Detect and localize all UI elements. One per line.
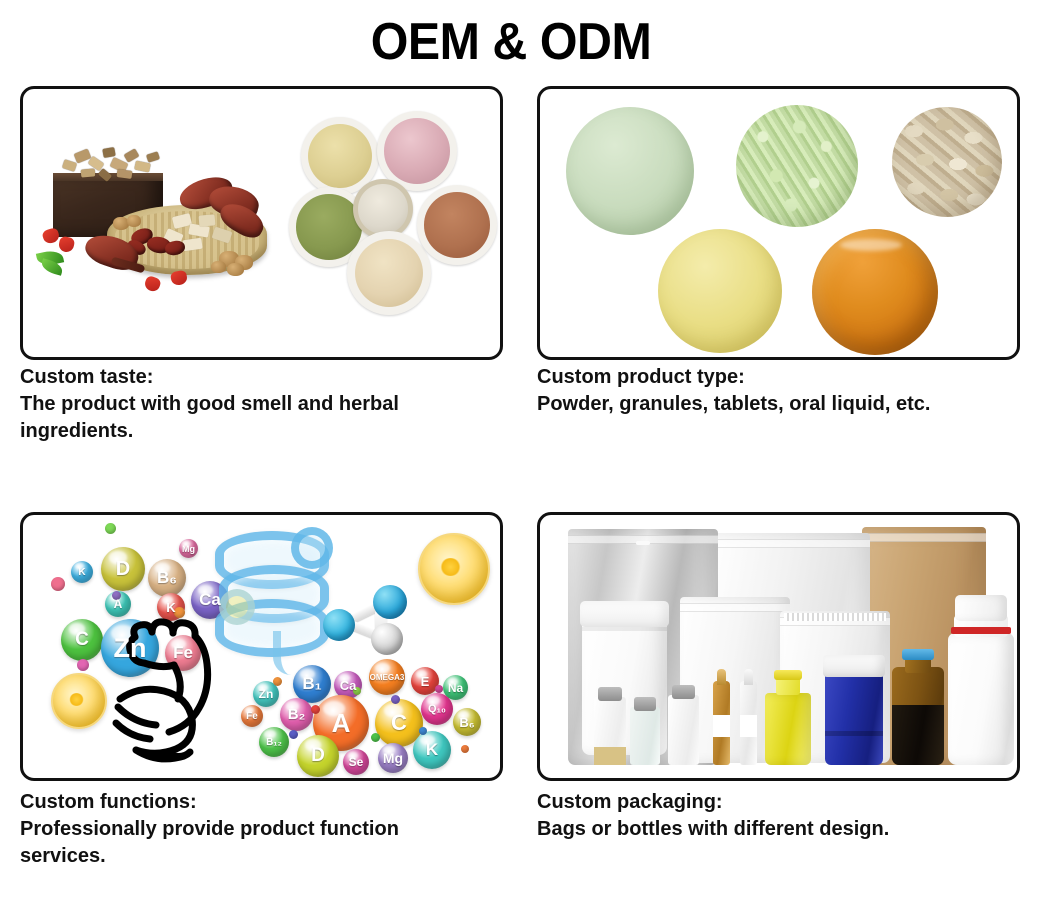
- vitamin-bubble-label: A: [332, 708, 351, 739]
- vitamin-bubble-label: K: [166, 600, 175, 615]
- vitamin-bubble-b: B₁₂: [259, 727, 289, 757]
- card-custom-packaging[interactable]: [537, 512, 1020, 781]
- dried-herb-heap: [59, 143, 163, 179]
- sample-green-granules: [736, 105, 858, 227]
- card-custom-taste[interactable]: [20, 86, 503, 360]
- white-hdpe-bottle: [948, 633, 1014, 765]
- oil-softgel-top-right: [418, 533, 490, 605]
- caption-text-custom-packaging: Bags or bottles with different design.: [537, 816, 1007, 843]
- vitamin-bubble-c: C: [61, 619, 103, 661]
- vitamin-bubble-label: Se: [349, 755, 364, 769]
- caption-text-custom-product-type: Powder, granules, tablets, oral liquid, …: [537, 391, 1007, 418]
- vial-right: [668, 695, 699, 765]
- vitamin-bubble-d: D: [101, 547, 145, 591]
- caption-text-custom-functions: Professionally provide product function …: [20, 816, 490, 870]
- caption-custom-taste: Custom taste: The product with good smel…: [20, 364, 490, 446]
- vitamin-bubble-label: Ca: [340, 678, 357, 693]
- oil-softgel-bottom-left: [51, 673, 107, 729]
- caption-text-custom-taste: The product with good smell and herbal i…: [20, 391, 490, 445]
- vitamin-bubble-mg: Mg: [378, 743, 408, 773]
- vitamin-bubble-label: B₆: [157, 568, 177, 588]
- card-custom-functions[interactable]: KDB₆MgCaAKCZnFe: [20, 512, 503, 781]
- page-title: OEM & ODM: [23, 16, 1000, 68]
- vitamin-bubble-label: D: [311, 745, 325, 767]
- vitamin-bubble-label: K: [78, 567, 85, 578]
- vitamin-bubble-mg: Mg: [179, 539, 198, 558]
- vitamin-bubble-label: D: [116, 558, 130, 581]
- vitamin-bubble-label: Zn: [114, 633, 147, 664]
- vitamin-bubble-k: K: [413, 731, 451, 769]
- vitamin-bubble-label: Mg: [383, 750, 403, 766]
- caption-custom-packaging: Custom packaging: Bags or bottles with d…: [537, 789, 1007, 843]
- vitamin-bubble-d: D: [297, 735, 339, 777]
- vitamin-bubble-label: Mg: [182, 544, 195, 554]
- caption-title-custom-product-type: Custom product type:: [537, 364, 1007, 391]
- powder-bowl-beige: [347, 231, 431, 315]
- vitamin-bubble-label: Ca: [199, 590, 221, 610]
- vitamin-bubble-omega3: OMEGA3: [369, 659, 405, 695]
- caption-custom-functions: Custom functions: Professionally provide…: [20, 789, 490, 871]
- vitamin-bubble-label: C: [391, 710, 407, 736]
- vial-middle: [630, 707, 660, 765]
- caption-title-custom-functions: Custom functions:: [20, 789, 490, 816]
- yellow-liquid-bottle: [765, 693, 811, 765]
- sample-tablets: [892, 107, 1002, 217]
- vitamin-bubble-b: B₆: [453, 708, 481, 736]
- custom-functions-image: KDB₆MgCaAKCZnFe: [23, 515, 500, 778]
- vitamin-bubble-se: Se: [343, 749, 369, 775]
- vitamin-bubble-label: Fe: [246, 711, 258, 722]
- caption-title-custom-packaging: Custom packaging:: [537, 789, 1007, 816]
- vitamin-bubble-label: K: [426, 740, 438, 760]
- vitamin-bubble-label: E: [421, 674, 430, 689]
- vitamin-bubble-label: B₆: [459, 715, 474, 730]
- caption-custom-product-type: Custom product type: Powder, granules, t…: [537, 364, 1007, 418]
- vitamin-bubble-b: B₆: [148, 559, 186, 597]
- vitamin-bubble-label: B₁: [302, 674, 321, 694]
- blue-jar: [825, 663, 883, 765]
- vitamin-bubble-label: Na: [448, 681, 463, 695]
- sample-green-powder: [566, 107, 694, 235]
- custom-product-type-image: [540, 89, 1017, 357]
- vitamin-bubble-label: B₁₂: [266, 737, 282, 748]
- vitamin-bubble-label: Fe: [173, 643, 193, 663]
- custom-packaging-image: [540, 515, 1017, 778]
- vitamin-bubble-label: Zn: [259, 687, 274, 701]
- powder-bowl-white: [353, 179, 413, 239]
- vitamin-bubble-label: A: [114, 597, 123, 611]
- vitamin-bubbles-right: ZnFeB₁CaOMEGA3ENaB₂ACQ₁₀B₆B₁₂DSeMgK: [241, 653, 491, 773]
- caption-title-custom-taste: Custom taste:: [20, 364, 490, 391]
- card-custom-product-type[interactable]: [537, 86, 1020, 360]
- powder-bowl-brown: [417, 185, 497, 265]
- vitamin-bubble-label: B₂: [288, 706, 306, 723]
- vitamin-bubble-q: Q₁₀: [421, 693, 453, 725]
- vitamin-bubble-fe: Fe: [241, 705, 263, 727]
- vitamin-bubble-label: OMEGA3: [370, 673, 405, 682]
- sample-yellow-powder: [658, 229, 782, 353]
- vitamin-bubble-b: B₂: [280, 698, 313, 731]
- vitamin-bubble-label: Q₁₀: [428, 703, 446, 715]
- custom-taste-image: [23, 89, 500, 357]
- vitamin-bubble-label: C: [75, 629, 89, 651]
- molecule-model-icon: [323, 585, 413, 655]
- vitamin-bubble-k: K: [71, 561, 93, 583]
